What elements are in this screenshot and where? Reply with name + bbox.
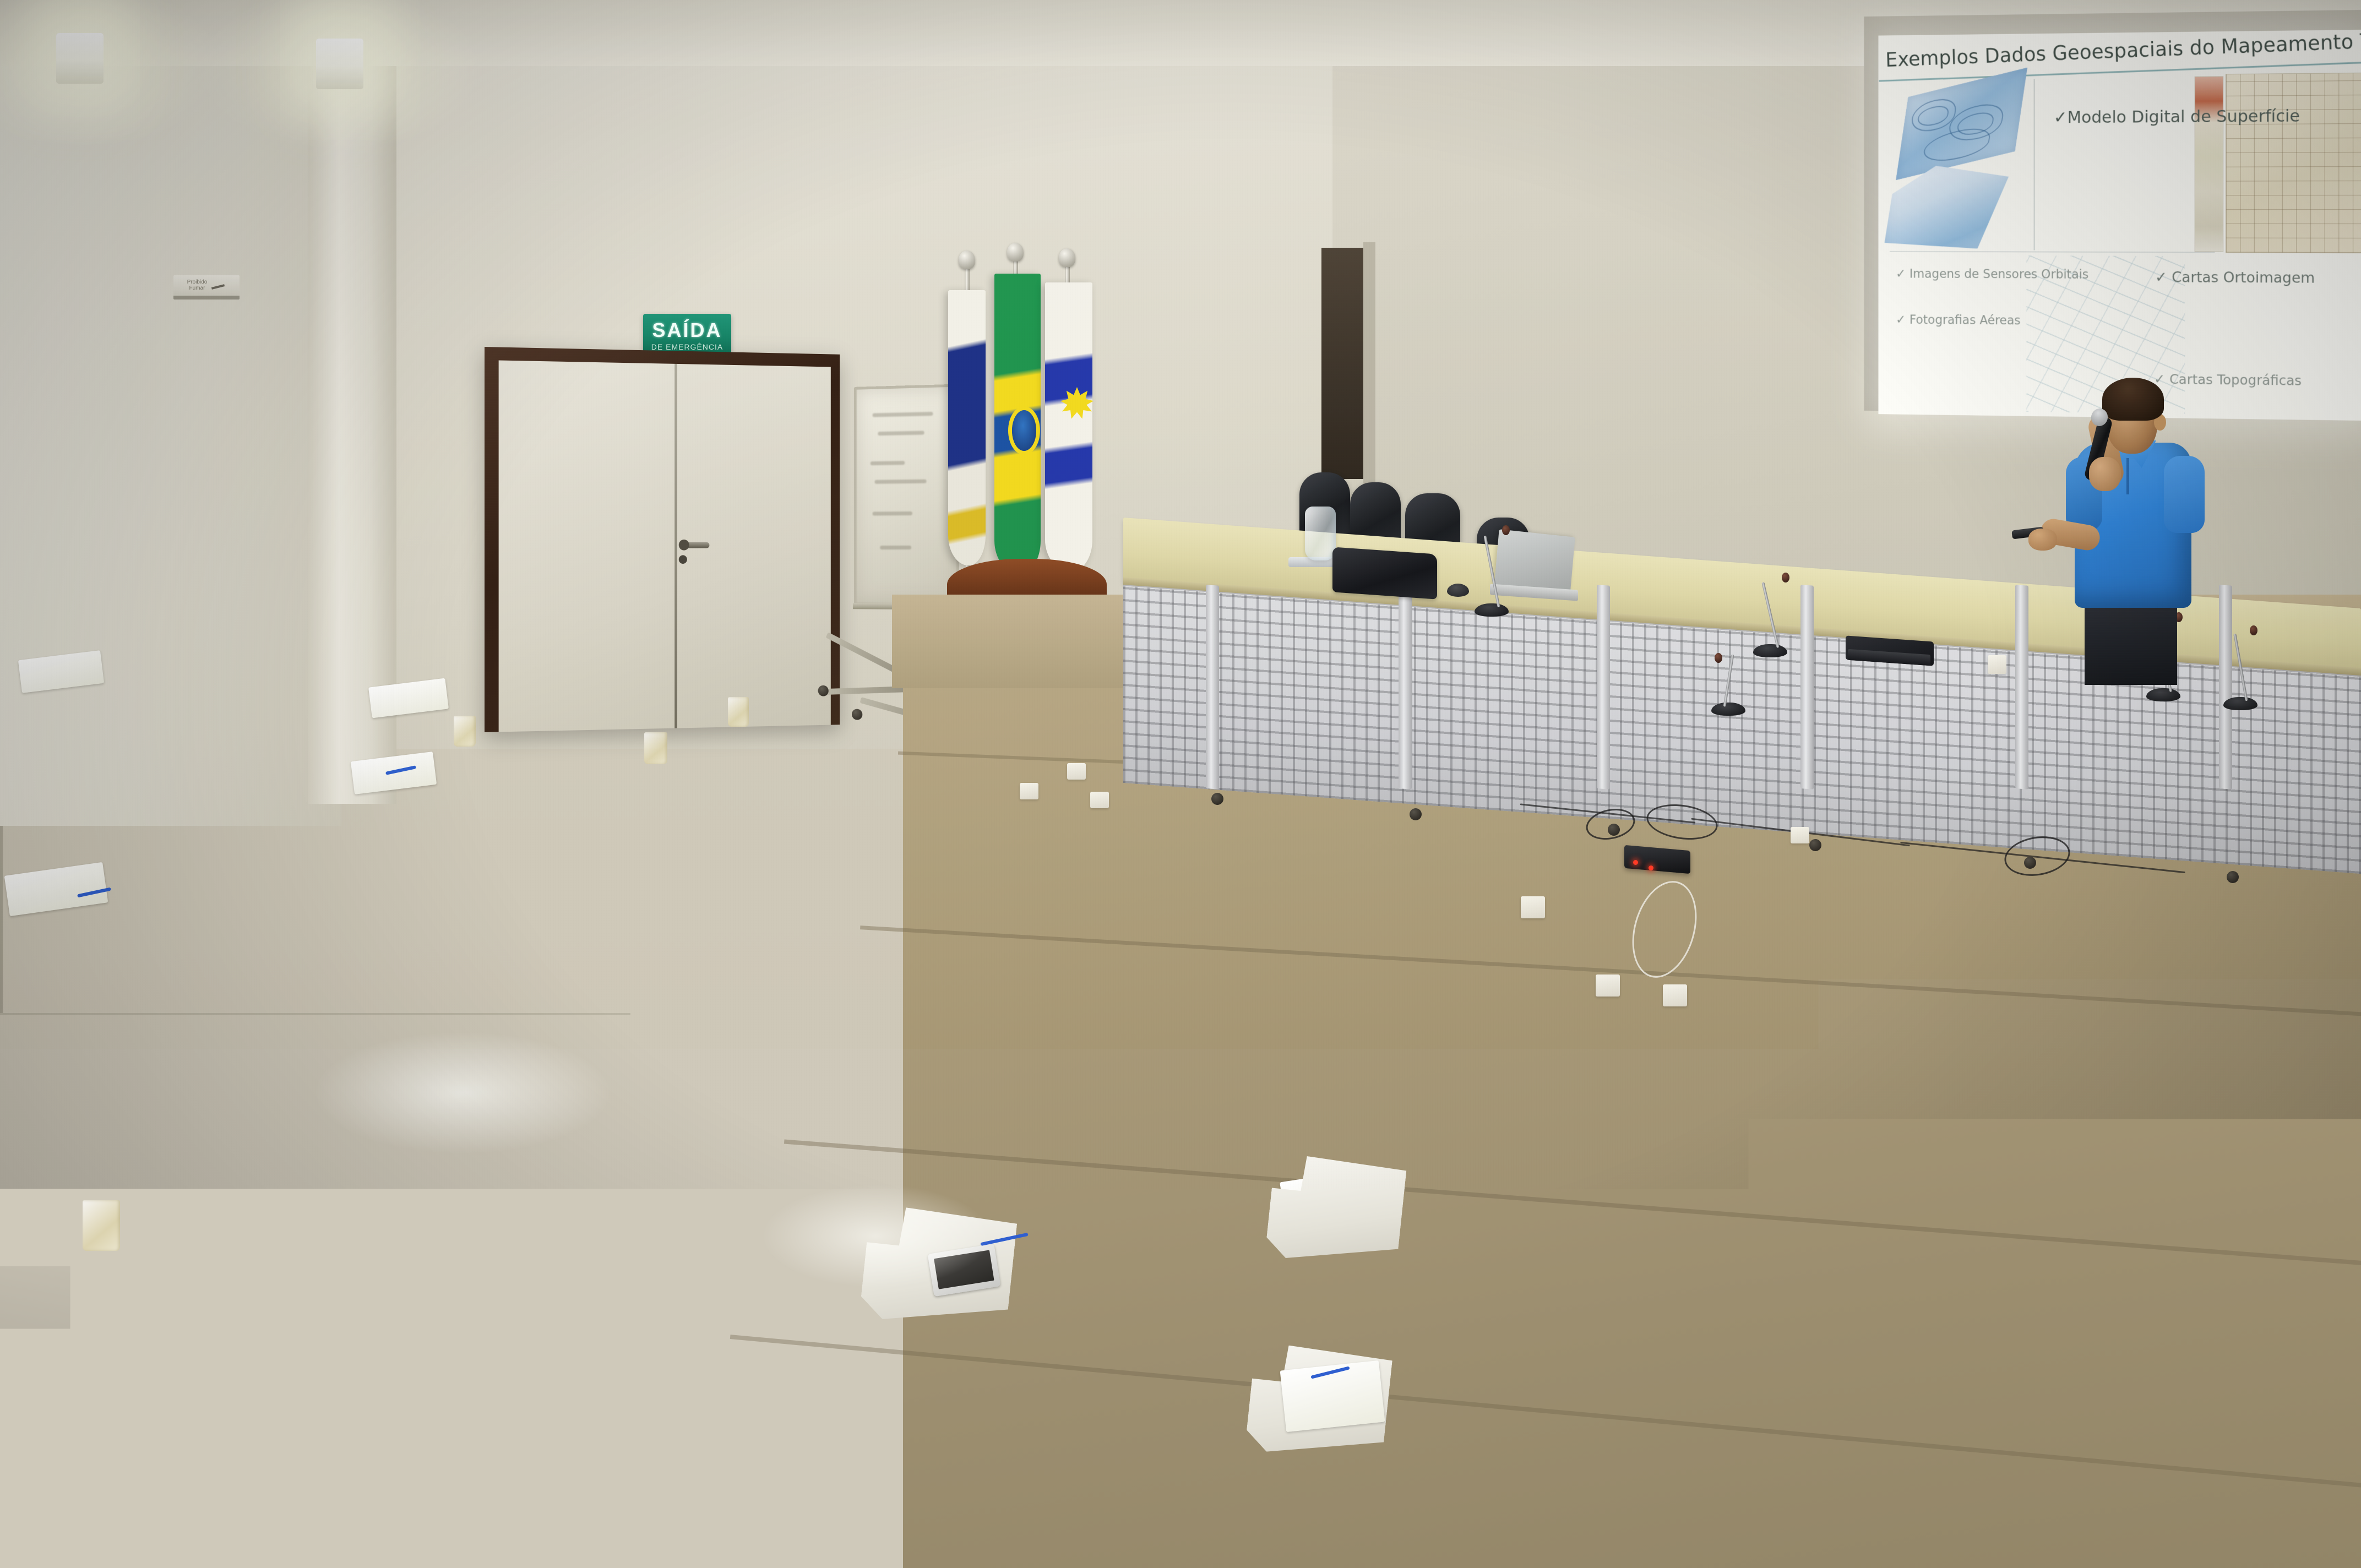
slide-bullet-fotografias-aereas: ✓ Fotografias Aéreas [1896,312,2021,329]
slide-bullet-modelo-digital: ✓Modelo Digital de Superfície [2054,105,2300,129]
door-center-seam [674,364,677,728]
presenter-shirt-placket [2126,458,2129,494]
gooseneck-microphone[interactable] [1487,529,1520,617]
wall-seam [0,1013,630,1015]
no-smoking-label: Proibido Fumar [187,280,208,291]
exit-sign-line2: DE EMERGÊNCIA [651,343,723,351]
auditorium-photo: SAÍDA DE EMERGÊNCIA Proibido Fumar [0,0,2361,1568]
table-leg-post [1206,585,1219,790]
presenter-hair [2102,378,2164,421]
presenter-hand-holding-mic [2089,457,2121,491]
drink-glass[interactable] [454,716,476,747]
table-leg-post [1597,585,1610,790]
flag-parana [948,290,986,565]
cigarette-icon [211,282,226,290]
table-leg-post [1800,585,1814,790]
wall-outlet[interactable] [1988,655,2006,674]
door-knob-icon[interactable] [679,540,689,551]
water-pitcher[interactable] [1305,507,1336,560]
gooseneck-microphone[interactable] [1723,650,1756,716]
slide-bullet-imagens-sensores: ✓ Imagens de Sensores Orbitais [1896,266,2088,283]
door-leaves[interactable] [499,361,831,732]
slide-divider [2034,79,2035,250]
equipment-bag[interactable] [1332,547,1437,599]
table-leg-post [2015,585,2028,790]
left-wall [0,0,341,826]
exit-sign-line1: SAÍDA [652,320,722,340]
double-door-frame [485,347,840,732]
gooseneck-microphone[interactable] [1765,575,1798,657]
power-led-icon [1633,860,1638,865]
flag-brazil-globe [1012,410,1036,451]
presentation-slide: Exemplos Dados Geoespaciais do Mapeament… [1878,30,2361,421]
orthoimage-strip-thumbnail [2195,76,2224,252]
flag-municipal [1045,282,1092,571]
flag-finial-icon [1007,243,1024,262]
wall-outlet[interactable] [1067,763,1086,780]
presenter-right-sleeve [2164,456,2205,533]
wall-outlet[interactable] [1020,783,1038,799]
orthoimage-grid-thumbnail [2226,72,2361,254]
gooseneck-microphone[interactable] [2235,628,2268,710]
computer-mouse[interactable] [1447,584,1469,597]
pen[interactable] [338,1327,376,1369]
flag-finial-icon [1059,248,1075,267]
notebook[interactable] [4,862,108,916]
wall-outlet[interactable] [1791,827,1809,843]
slide-title: Exemplos Dados Geoespaciais do Mapeament… [1885,30,2361,72]
camera-flash-glare [308,1030,617,1156]
floor-outlet[interactable] [1596,974,1620,997]
wall-outlet[interactable] [1090,792,1109,808]
slide-bullet-cartas-ortoimagem: ✓ Cartas Ortoimagem [2155,268,2315,288]
no-smoking-sign: Proibido Fumar [173,275,240,300]
wall-outlet[interactable] [1521,896,1545,918]
wall-sconce-light [316,39,363,89]
slide-divider [1890,251,2215,253]
drink-glass[interactable] [728,697,749,727]
flag-finial-icon [959,251,975,269]
presenter [2032,363,2224,672]
wall-column [308,0,396,804]
presenter-hand-holding-clicker [2028,529,2057,551]
doorway-jamb [1363,242,1375,484]
wall-sconce-light [56,33,104,84]
contour-map-thumbnail [1896,68,2027,181]
eyeglasses [31,1532,57,1546]
door-lock-icon[interactable] [679,555,687,564]
drink-glass[interactable] [83,1200,120,1251]
table-leg-post [1399,585,1412,790]
presenter-trousers [2085,597,2177,685]
floor-outlet[interactable] [1663,984,1687,1006]
status-led-icon [1649,865,1653,870]
projection-screen: Exemplos Dados Geoespaciais do Mapeament… [1864,10,2361,417]
notebook[interactable] [84,1396,213,1487]
drink-glass[interactable] [644,732,667,764]
